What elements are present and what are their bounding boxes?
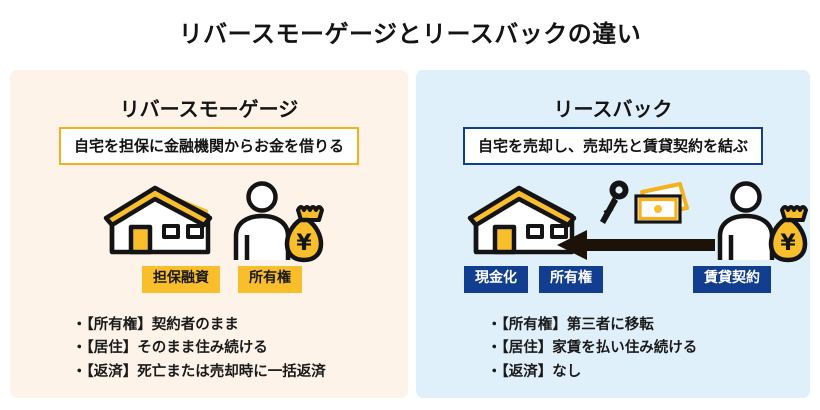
left-arrow-icon <box>557 228 717 266</box>
badge-tanpo-yushi: 担保融資 <box>142 266 220 293</box>
svg-text:¥: ¥ <box>296 231 312 256</box>
panel-subtitle-reverse-mortgage: 自宅を担保に金融機関からお金を借りる <box>59 127 359 165</box>
person-with-money-bag-icon: ¥ <box>712 180 820 270</box>
badge-chintai-keiyaku: 賃貸契約 <box>693 266 771 293</box>
list-item: ・【居住】そのまま住み続ける <box>72 337 326 360</box>
badge-shoyuken-left: 所有権 <box>238 266 302 293</box>
banknotes-icon <box>636 184 687 222</box>
panel-title-leaseback: リースバック <box>416 93 810 122</box>
icon-row-reverse-mortgage: ¥ <box>10 182 408 262</box>
bullet-list-leaseback: ・【所有権】第三者に移転 ・【居住】家賃を払い住み続ける ・【返済】なし <box>487 314 697 384</box>
panel-reverse-mortgage: リバースモーゲージ 自宅を担保に金融機関からお金を借りる <box>10 70 408 398</box>
svg-text:¥: ¥ <box>780 231 796 256</box>
icon-row-leaseback: ¥ <box>416 182 810 262</box>
panel-title-reverse-mortgage: リバースモーゲージ <box>10 93 408 122</box>
panel-leaseback: リースバック 自宅を売却し、売却先と賃貸契約を結ぶ <box>416 70 810 398</box>
list-item: ・【所有権】契約者のまま <box>72 314 326 337</box>
badge-shoyuken-right: 所有権 <box>539 266 603 293</box>
key-icon <box>600 181 629 225</box>
panel-subtitle-leaseback: 自宅を売却し、売却先と賃貸契約を結ぶ <box>463 127 763 165</box>
list-item: ・【返済】死亡または売却時に一括返済 <box>72 361 326 384</box>
list-item: ・【所有権】第三者に移転 <box>487 314 697 337</box>
list-item: ・【返済】なし <box>487 361 697 384</box>
list-item: ・【居住】家賃を払い住み続ける <box>487 337 697 360</box>
badge-genkinka: 現金化 <box>464 266 528 293</box>
person-with-money-bag-icon: ¥ <box>228 180 338 270</box>
page-title: リバースモーゲージとリースバックの違い <box>0 14 820 49</box>
house-icon <box>100 182 220 266</box>
bullet-list-reverse-mortgage: ・【所有権】契約者のまま ・【居住】そのまま住み続ける ・【返済】死亡または売却… <box>72 314 326 384</box>
